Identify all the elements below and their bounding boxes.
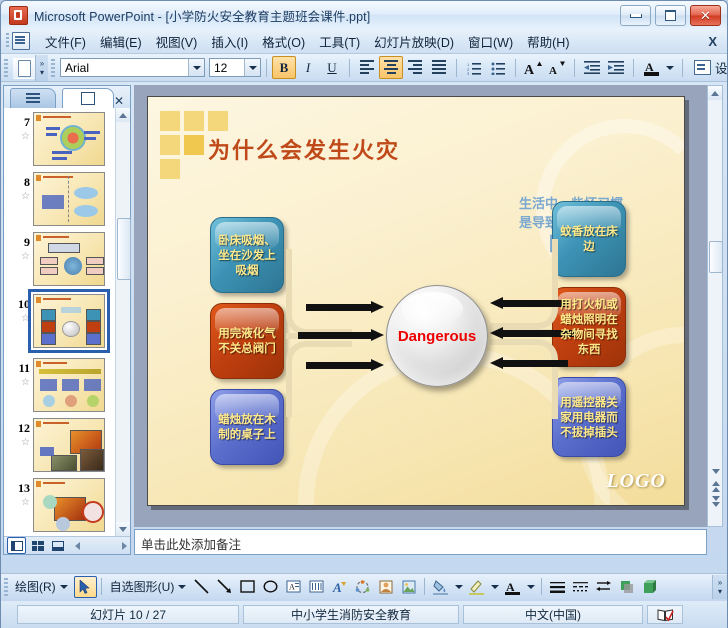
node-left-3[interactable]: 蜡烛放在木制的桌子上	[210, 389, 284, 465]
toolbar-separator	[515, 59, 516, 77]
numbered-list-button[interactable]: 123	[462, 56, 486, 79]
thumbnail-preview[interactable]	[33, 478, 105, 532]
text-box-icon: A	[286, 580, 301, 593]
scrollbar-thumb[interactable]	[117, 218, 131, 280]
thumbnail-item[interactable]: 12☆	[4, 414, 130, 474]
slide-canvas[interactable]: 为什么会发生火灾 生活中一些坏习惯 是导致火灾的重大 隐患 卧床吸烟、坐在沙发上…	[147, 96, 685, 506]
node-right-2[interactable]: 用打火机或蜡烛照明在杂物间寻找东西	[552, 287, 626, 367]
arrow-style-tool[interactable]	[592, 576, 615, 598]
font-color-dropdown[interactable]	[524, 576, 537, 598]
thumbnail-item[interactable]: 11☆	[4, 354, 130, 414]
svg-text:A: A	[524, 63, 535, 76]
menu-window[interactable]: 窗口(W)	[461, 29, 520, 54]
animation-star-icon: ☆	[6, 497, 30, 508]
decrease-indent-button[interactable]	[580, 56, 604, 79]
chevron-down-icon	[193, 66, 201, 70]
double-chevron-up-icon	[712, 481, 720, 492]
title-bar: Microsoft PowerPoint - [小学防火安全教育主题班会课件.p…	[1, 1, 727, 29]
thumbnail-preview[interactable]	[33, 172, 105, 226]
shadow-style-tool[interactable]	[615, 576, 638, 598]
connector-curve	[490, 239, 558, 329]
slide-sorter-icon	[32, 541, 44, 551]
chevron-up-icon	[119, 113, 127, 118]
thumbnail-preview[interactable]	[33, 232, 105, 286]
vertical-text-box-icon	[309, 580, 324, 593]
thumbnail-item[interactable]: 13☆	[4, 474, 130, 534]
slide-marker-icon	[36, 297, 41, 303]
chevron-down-icon	[666, 66, 674, 70]
slide-title[interactable]: 为什么会发生火灾	[208, 133, 400, 165]
picture-icon	[402, 580, 416, 594]
connector-curve	[490, 339, 558, 419]
drawing-toolbar: 绘图(R) 自选图形(U) A A A »▾	[1, 573, 727, 599]
node-right-3-label: 用遥控器关家用电器而不拔掉插头	[557, 395, 621, 440]
spellcheck-icon	[657, 608, 674, 622]
animation-star-icon: ☆	[6, 377, 30, 388]
powerpoint-icon	[9, 6, 28, 25]
thumbnail-item-selected[interactable]: 10☆	[4, 288, 130, 354]
tab-slides[interactable]	[62, 88, 114, 108]
thumbnail-item[interactable]: 8☆	[4, 168, 130, 228]
chevron-down-icon[interactable]	[178, 585, 186, 589]
close-panel-button[interactable]: ✕	[114, 94, 124, 108]
tab-outline[interactable]	[10, 88, 56, 108]
maximize-icon	[665, 10, 676, 21]
increase-font-size-icon: A	[524, 60, 542, 76]
diagram-tool[interactable]	[351, 576, 374, 598]
scrollbar-thumb[interactable]	[709, 241, 723, 273]
svg-text:A: A	[332, 580, 342, 594]
chevron-down-icon	[527, 585, 535, 589]
slide-show-icon	[52, 541, 64, 551]
underline-icon: U	[327, 60, 336, 76]
deco-square	[184, 111, 204, 131]
slide-show-view-button[interactable]	[49, 538, 66, 553]
clipart-icon	[379, 580, 393, 594]
chevron-up-icon	[711, 91, 719, 96]
node-left-1-label: 卧床吸烟、坐在沙发上吸烟	[215, 233, 279, 278]
slide-stage: 为什么会发生火灾 生活中一些坏习惯 是导致火灾的重大 隐患 卧床吸烟、坐在沙发上…	[134, 85, 707, 527]
toolbar-separator	[541, 578, 542, 595]
decrease-indent-icon	[584, 61, 600, 74]
double-chevron-down-icon	[712, 496, 720, 507]
select-arrow-tool[interactable]	[74, 576, 97, 598]
menu-tools[interactable]: 工具(T)	[312, 29, 367, 54]
powerpoint-window: Microsoft PowerPoint - [小学防火安全教育主题班会课件.p…	[0, 0, 728, 628]
center-sphere-label: Dangerous	[398, 328, 476, 345]
arrow-left-1	[306, 301, 384, 314]
animation-star-icon: ☆	[6, 131, 30, 142]
next-slide-button[interactable]	[709, 494, 722, 509]
status-bar: 幻灯片 10 / 27 中小学生消防安全教育 中文(中国)	[1, 601, 727, 628]
align-right-button[interactable]	[403, 56, 427, 79]
font-color-icon: A	[644, 59, 659, 76]
menu-slideshow[interactable]: 幻灯片放映(D)	[367, 29, 461, 54]
font-size-value: 12	[210, 61, 244, 75]
document-icon	[12, 32, 30, 50]
svg-text:3: 3	[467, 71, 470, 75]
standard-toolbar-handle[interactable]	[4, 59, 8, 77]
thumbnail-number: 11	[19, 361, 30, 375]
scroll-up-button[interactable]	[708, 86, 722, 100]
outline-tab-icon	[26, 93, 40, 104]
spellcheck-status[interactable]	[647, 605, 683, 624]
connector-curve	[286, 341, 352, 417]
chevron-down-icon	[491, 585, 499, 589]
chevron-down-icon	[119, 527, 127, 532]
normal-view-icon	[11, 541, 23, 551]
oval-icon	[263, 580, 278, 593]
font-color-icon: A	[505, 579, 520, 595]
design-button-label: 设计(S)	[715, 58, 728, 77]
standard-toolbar-overflow[interactable]: »▾	[35, 55, 48, 81]
increase-indent-button[interactable]	[604, 56, 628, 79]
node-right-2-label: 用打火机或蜡烛照明在杂物间寻找东西	[557, 297, 621, 357]
formatting-toolbar-handle[interactable]	[51, 59, 55, 77]
toolbar-separator	[266, 59, 267, 77]
deco-square	[208, 111, 228, 131]
deco-square	[160, 111, 180, 131]
italic-icon: I	[306, 60, 310, 76]
decrease-font-size-button[interactable]: A	[545, 56, 569, 79]
animation-star-icon: ☆	[6, 437, 30, 448]
scroll-left-icon[interactable]	[75, 542, 80, 550]
thumbnail-number: 10	[18, 297, 30, 311]
node-right-3[interactable]: 用遥控器关家用电器而不拔掉插头	[552, 377, 626, 457]
font-size-combo[interactable]: 12	[209, 58, 261, 77]
view-buttons-bar	[4, 536, 130, 554]
slide-vertical-scrollbar[interactable]	[707, 85, 723, 527]
scroll-down-button[interactable]	[116, 522, 130, 536]
scroll-right-icon[interactable]	[122, 542, 127, 550]
thumbnail-list[interactable]: 7☆ 8☆	[4, 108, 130, 536]
minimize-icon	[630, 14, 642, 18]
panel-tabs: ✕	[4, 86, 130, 108]
3d-style-icon	[643, 580, 657, 594]
drawing-toolbar-handle[interactable]	[4, 578, 8, 596]
menu-drag-handle[interactable]	[6, 33, 9, 49]
svg-text:A: A	[645, 60, 654, 74]
chevron-down-icon	[712, 469, 720, 474]
thumbnail-item[interactable]: 7☆	[4, 108, 130, 168]
design-button[interactable]: 设计(S)	[688, 57, 728, 78]
rectangle-icon	[240, 580, 255, 593]
picture-tool[interactable]	[397, 576, 420, 598]
font-color-button[interactable]: A	[639, 56, 663, 79]
node-right-1[interactable]: 蚊香放在床边	[552, 201, 626, 277]
line-color-icon	[469, 579, 484, 595]
minimize-button[interactable]	[620, 5, 651, 26]
chevron-down-icon	[455, 585, 463, 589]
line-color-tool[interactable]	[465, 576, 488, 598]
arrow-style-icon	[596, 580, 611, 593]
fill-color-dropdown[interactable]	[452, 576, 465, 598]
close-icon: ✕	[700, 9, 711, 22]
node-left-1[interactable]: 卧床吸烟、坐在沙发上吸烟	[210, 217, 284, 293]
language-indicator[interactable]: 中文(中国)	[463, 605, 643, 624]
animation-star-icon: ☆	[6, 313, 30, 324]
arrow-tool[interactable]	[213, 576, 236, 598]
svg-text:A: A	[549, 65, 557, 76]
menu-file[interactable]: 文件(F)	[38, 29, 93, 54]
deco-square	[160, 159, 180, 179]
font-color-tool[interactable]: A	[501, 576, 524, 598]
increase-indent-icon	[608, 61, 624, 74]
toolbar-separator	[682, 59, 683, 77]
3d-style-tool[interactable]	[638, 576, 661, 598]
menu-edit[interactable]: 编辑(E)	[93, 29, 149, 54]
thumbnail-number: 8	[24, 175, 30, 189]
oval-tool[interactable]	[259, 576, 282, 598]
menu-help[interactable]: 帮助(H)	[520, 29, 576, 54]
underline-button[interactable]: U	[320, 56, 344, 79]
chevron-down-icon	[249, 66, 257, 70]
rectangle-tool[interactable]	[236, 576, 259, 598]
slide-logo: LOGO	[606, 470, 666, 493]
node-left-2-label: 用完液化气不关总阀门	[215, 326, 279, 356]
slide-counter: 幻灯片 10 / 27	[17, 605, 239, 624]
slide-marker-icon	[36, 235, 41, 241]
bulleted-list-button[interactable]	[486, 56, 510, 79]
design-icon	[694, 60, 711, 75]
design-template-name: 中小学生消防安全教育	[243, 605, 459, 624]
arrow-right-3	[490, 357, 568, 370]
node-left-2[interactable]: 用完液化气不关总阀门	[210, 303, 284, 379]
line-style-icon	[550, 580, 565, 593]
wordart-tool[interactable]: A	[328, 576, 351, 598]
slide-sorter-view-button[interactable]	[29, 538, 46, 553]
toolbar-separator	[101, 578, 102, 595]
numbered-list-icon: 123	[467, 61, 482, 75]
slide-marker-icon	[36, 115, 41, 121]
increase-font-size-button[interactable]: A	[521, 56, 545, 79]
thumbnail-number: 7	[24, 115, 30, 129]
window-controls: ✕	[620, 5, 721, 26]
slide-marker-icon	[36, 481, 41, 487]
deco-square	[184, 135, 204, 155]
animation-star-icon: ☆	[6, 251, 30, 262]
node-left-3-label: 蜡烛放在木制的桌子上	[215, 412, 279, 442]
thumbnail-number: 12	[18, 421, 30, 435]
text-box-tool[interactable]: A	[282, 576, 305, 598]
justify-icon	[432, 60, 446, 76]
menu-insert[interactable]: 插入(I)	[204, 29, 255, 54]
line-icon	[194, 579, 209, 594]
thumbnail-number: 13	[18, 481, 30, 495]
menu-format[interactable]: 格式(O)	[255, 29, 312, 54]
maximize-button[interactable]	[655, 5, 686, 26]
close-button[interactable]: ✕	[690, 5, 721, 26]
slides-panel: ✕ 7☆ 8☆	[3, 85, 131, 555]
scroll-up-button[interactable]	[116, 108, 130, 122]
horizontal-scrollbar[interactable]	[72, 539, 130, 552]
thumbnail-preview[interactable]	[33, 418, 105, 472]
normal-view-button[interactable]	[7, 537, 26, 554]
italic-button[interactable]: I	[296, 56, 320, 79]
svg-text:A: A	[289, 583, 295, 592]
arrow-icon	[217, 579, 232, 594]
deco-square	[160, 135, 180, 155]
drawing-toolbar-overflow[interactable]: »▾	[712, 575, 727, 599]
align-left-button[interactable]	[355, 56, 379, 79]
dash-style-icon	[573, 580, 588, 593]
toolbar-separator	[574, 59, 575, 77]
slide-marker-icon	[36, 175, 41, 181]
scroll-down-button[interactable]	[709, 464, 722, 478]
thumbnail-preview[interactable]	[33, 294, 105, 348]
slide-marker-icon	[36, 361, 41, 367]
line-color-dropdown[interactable]	[488, 576, 501, 598]
bold-icon: B	[280, 60, 289, 76]
node-right-1-label: 蚊香放在床边	[557, 224, 621, 254]
font-size-dropdown-arrow[interactable]	[244, 59, 260, 76]
new-document-button[interactable]	[13, 57, 35, 79]
diagram-icon	[355, 580, 370, 594]
shadow-style-icon	[620, 580, 634, 594]
notes-pane[interactable]: 单击此处添加备注	[134, 529, 707, 555]
thumbnail-item[interactable]: 9☆	[4, 228, 130, 288]
center-sphere[interactable]: Dangerous	[386, 285, 488, 387]
thumbnail-number: 9	[24, 235, 30, 249]
arrow-left-3	[306, 359, 384, 372]
animation-star-icon: ☆	[6, 191, 30, 202]
justify-button[interactable]	[427, 56, 451, 79]
line-tool[interactable]	[190, 576, 213, 598]
cursor-arrow-icon	[79, 580, 91, 594]
vertical-text-box-tool[interactable]	[305, 576, 328, 598]
toolbar-separator	[424, 578, 425, 595]
slides-tab-icon	[81, 92, 95, 105]
menu-view[interactable]: 视图(V)	[149, 29, 205, 54]
chevron-down-icon[interactable]	[60, 585, 68, 589]
draw-menu-button[interactable]: 绘图(R)	[11, 578, 60, 595]
toolbar-separator	[633, 59, 634, 77]
align-center-button[interactable]	[379, 56, 403, 79]
autoshapes-menu-button[interactable]: 自选图形(U)	[106, 578, 179, 595]
dash-style-tool[interactable]	[569, 576, 592, 598]
previous-slide-button[interactable]	[709, 479, 722, 494]
slide-marker-icon	[36, 421, 41, 427]
window-title: Microsoft PowerPoint - [小学防火安全教育主题班会课件.p…	[34, 6, 370, 25]
align-left-icon	[360, 60, 374, 76]
connector-curve	[286, 249, 352, 335]
panel-scrollbar[interactable]	[115, 108, 130, 536]
thumbnail-preview[interactable]	[33, 112, 105, 166]
bulleted-list-icon	[491, 61, 506, 75]
wordart-icon: A	[332, 580, 347, 594]
formatting-toolbar: »▾ Arial 12 B I U 123	[1, 54, 727, 82]
arrow-left-2	[298, 329, 384, 342]
align-center-icon	[384, 60, 398, 76]
toolbar-separator	[349, 59, 350, 77]
decrease-font-size-icon: A	[548, 60, 566, 76]
clipart-tool[interactable]	[374, 576, 397, 598]
align-right-icon	[408, 60, 422, 76]
menu-bar: 文件(F) 编辑(E) 视图(V) 插入(I) 格式(O) 工具(T) 幻灯片放…	[1, 29, 727, 54]
font-color-dropdown[interactable]	[663, 56, 677, 79]
font-name-value: Arial	[61, 61, 188, 75]
toolbar-separator	[456, 59, 457, 77]
font-name-dropdown-arrow[interactable]	[188, 59, 204, 76]
line-style-tool[interactable]	[546, 576, 569, 598]
close-document-button[interactable]: X	[708, 34, 717, 49]
bold-button[interactable]: B	[272, 56, 296, 79]
svg-text:A: A	[506, 580, 515, 594]
fill-color-tool[interactable]	[429, 576, 452, 598]
fill-color-icon	[433, 579, 448, 595]
font-name-combo[interactable]: Arial	[60, 58, 205, 77]
thumbnail-preview[interactable]	[33, 358, 105, 412]
